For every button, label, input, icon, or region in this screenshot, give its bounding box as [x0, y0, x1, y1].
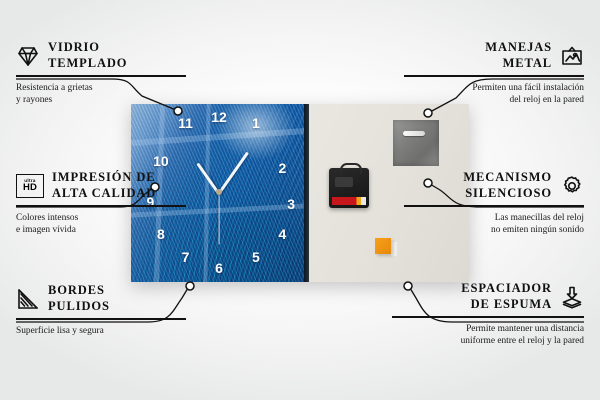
callout-title-line2: ALTA CALIDAD: [52, 186, 156, 202]
callout-title-line1: BORDES: [48, 283, 110, 299]
foam-spacer-pad: [375, 238, 391, 254]
callout-desc-line2: uniforme entre el reloj y la pared: [392, 335, 584, 348]
clock-center-cap: [216, 189, 222, 195]
callout-desc-line2: del reloj en la pared: [404, 94, 584, 107]
callout-desc-line1: Permiten una fácil instalación: [404, 82, 584, 95]
infographic-canvas: 12 1 2 3 4 5 6 7 8 9 10 11: [0, 0, 600, 400]
callout-impresion-alta-calidad[interactable]: ultra HD IMPRESIÓN DE ALTA CALIDAD Color…: [16, 170, 186, 237]
callout-desc-line1: Permite mantener una distancia: [392, 323, 584, 336]
ultra-hd-icon-main: HD: [23, 183, 37, 193]
ultra-hd-icon: ultra HD: [16, 174, 44, 198]
callout-title-line1: VIDRIO: [48, 40, 127, 56]
clock-numeral-4: 4: [278, 227, 286, 241]
callout-desc-line2: y rayones: [16, 94, 186, 107]
callout-rule: [16, 205, 186, 206]
picture-frame-icon: [560, 44, 584, 68]
callout-manejas-metal[interactable]: MANEJAS METAL Permiten una fácil instala…: [404, 40, 584, 107]
callout-desc-line2: e imagen vívida: [16, 224, 186, 237]
callout-rule: [16, 318, 186, 319]
callout-title-line2: SILENCIOSO: [463, 186, 552, 202]
callout-bordes-pulidos[interactable]: BORDES PULIDOS Superficie lisa y segura: [16, 283, 186, 337]
panel-divider: [304, 104, 309, 282]
foam-spacer-icon: [560, 285, 584, 309]
clock-numeral-12: 12: [211, 110, 227, 124]
clock-numeral-2: 2: [278, 161, 286, 175]
callout-title-line2: DE ESPUMA: [461, 297, 552, 313]
callout-title-line1: ESPACIADOR: [461, 281, 552, 297]
diamond-icon: [16, 44, 40, 68]
callout-desc-line1: Colores intensos: [16, 212, 186, 225]
callout-rule: [392, 316, 584, 317]
callout-vidrio-templado[interactable]: VIDRIO TEMPLADO Resistencia a grietas y …: [16, 40, 186, 107]
callout-mecanismo-silencioso[interactable]: MECANISMO SILENCIOSO Las manecillas del …: [404, 170, 584, 237]
callout-espaciador-espuma[interactable]: ESPACIADOR DE ESPUMA Permite mantener un…: [392, 281, 584, 348]
clock-mechanism: [329, 168, 369, 208]
clock-numeral-7: 7: [182, 250, 190, 264]
clock-numeral-10: 10: [153, 154, 169, 168]
callout-title-line2: PULIDOS: [48, 299, 110, 315]
clock-numeral-3: 3: [287, 197, 295, 211]
clock-numeral-1: 1: [252, 116, 260, 130]
callout-title-line1: MECANISMO: [463, 170, 552, 186]
metal-hanger-plate: [393, 120, 439, 166]
clock-second-hand: [218, 193, 219, 245]
callout-title-line2: TEMPLADO: [48, 56, 127, 72]
callout-title-line2: METAL: [485, 56, 552, 72]
callout-title-line1: IMPRESIÓN DE: [52, 170, 156, 186]
callout-rule: [16, 75, 186, 76]
clock-numeral-11: 11: [178, 116, 193, 130]
polished-edge-icon: [16, 287, 40, 311]
callout-desc-line1: Superficie lisa y segura: [16, 325, 186, 338]
callout-rule: [404, 205, 584, 206]
callout-title-line1: MANEJAS: [485, 40, 552, 56]
callout-rule: [404, 75, 584, 76]
clock-numeral-6: 6: [215, 261, 223, 275]
callout-desc-line2: no emiten ningún sonido: [404, 224, 584, 237]
clock-numeral-5: 5: [252, 250, 260, 264]
callout-desc-line1: Resistencia a grietas: [16, 82, 186, 95]
callout-desc-line1: Las manecillas del reloj: [404, 212, 584, 225]
gear-icon: [560, 174, 584, 198]
